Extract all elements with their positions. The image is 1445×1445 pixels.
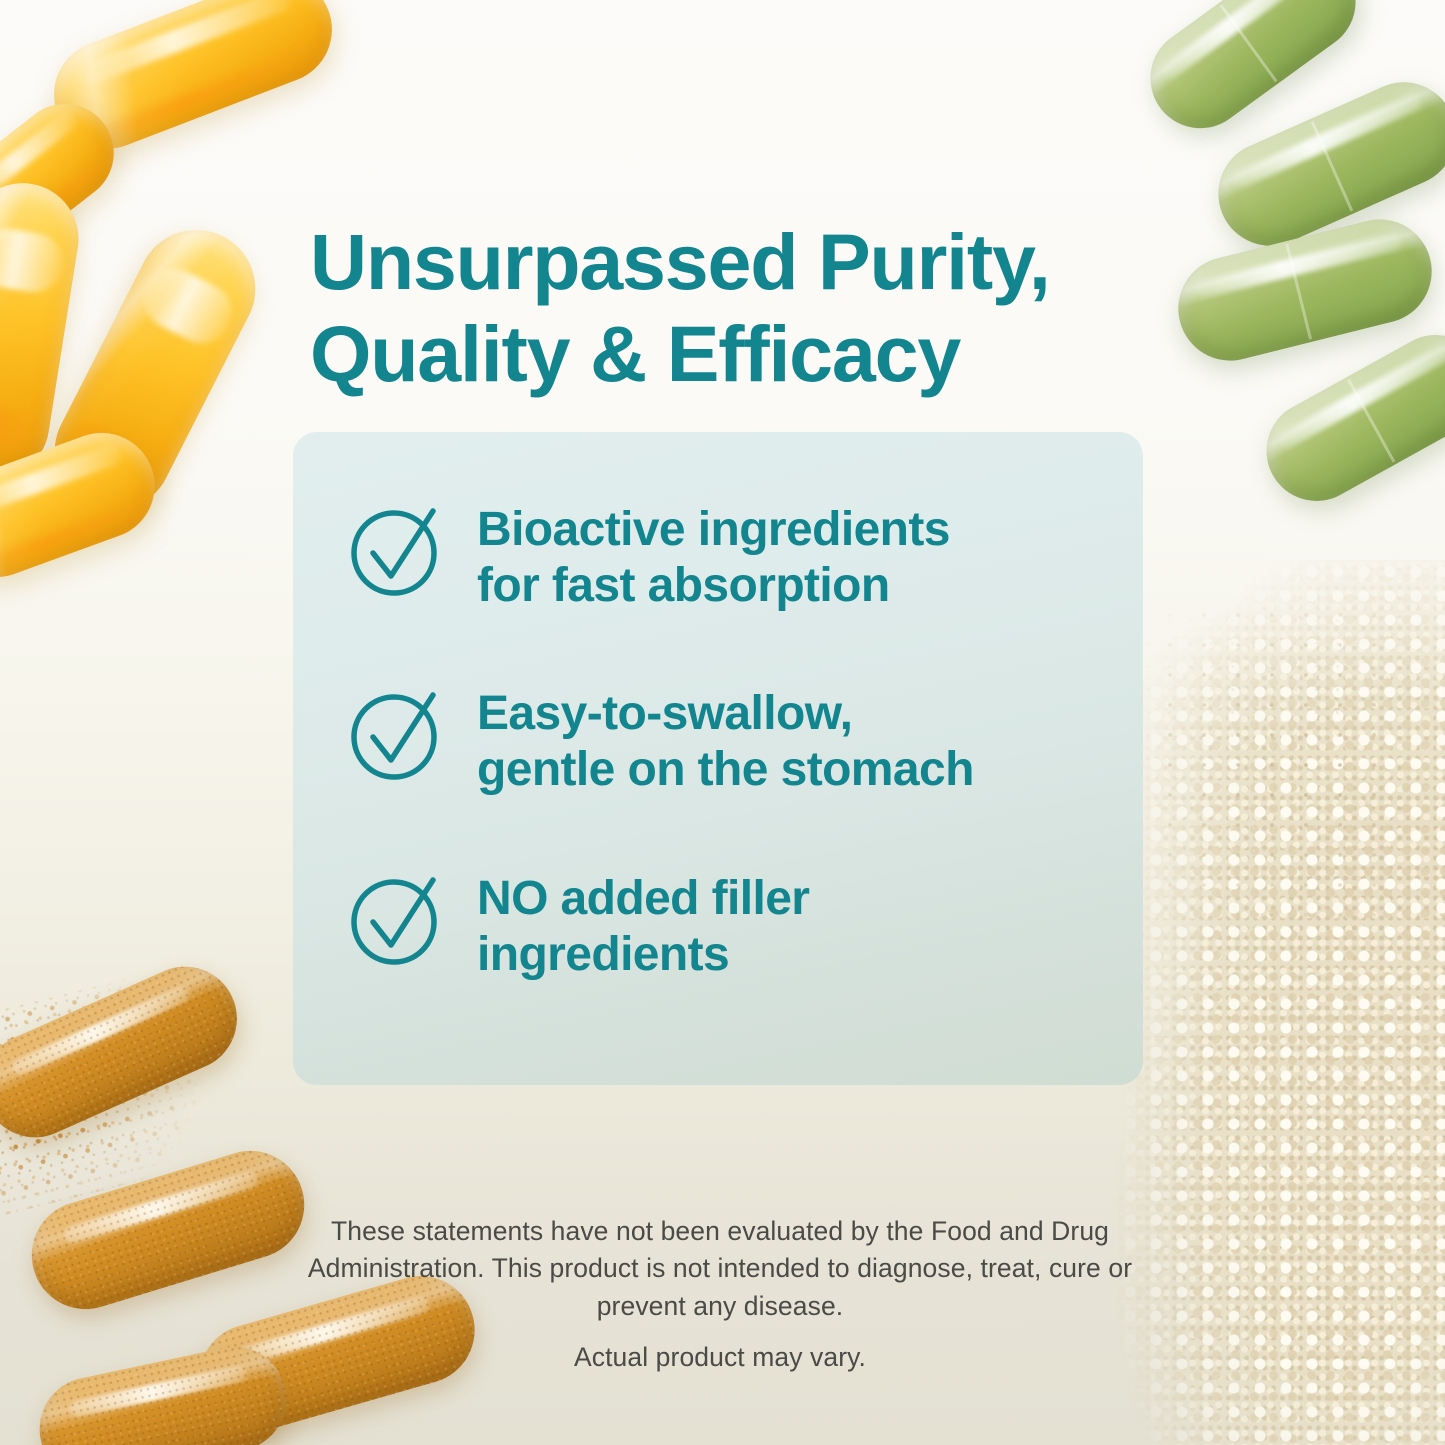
page-title-line-1: Unsurpassed Purity,	[310, 217, 1050, 306]
benefit-line-1: Easy-to-swallow,	[477, 687, 852, 740]
benefit-item-bioactive: Bioactive ingredients for fast absorptio…	[347, 494, 1103, 614]
page-title-line-2: Quality & Efficacy	[310, 308, 1170, 400]
benefit-text: NO added filler ingredients	[477, 863, 809, 983]
benefit-line-1: NO added filler	[477, 872, 809, 925]
product-feature-banner: Unsurpassed Purity, Quality & Efficacy B…	[0, 0, 1445, 1445]
benefit-line-1: Bioactive ingredients	[477, 503, 950, 556]
benefit-line-2: gentle on the stomach	[477, 743, 974, 796]
benefit-item-easy-to-swallow: Easy-to-swallow, gentle on the stomach	[347, 678, 1103, 798]
benefit-line-2: for fast absorption	[477, 559, 890, 612]
benefit-text: Easy-to-swallow, gentle on the stomach	[477, 678, 974, 798]
benefits-card: Bioactive ingredients for fast absorptio…	[293, 432, 1143, 1085]
actual-product-note: Actual product may vary.	[300, 1342, 1140, 1373]
check-circle-icon	[347, 498, 451, 602]
check-circle-icon	[347, 682, 451, 786]
check-circle-icon	[347, 867, 451, 971]
fda-disclaimer: These statements have not been evaluated…	[300, 1213, 1140, 1326]
benefits-list: Bioactive ingredients for fast absorptio…	[347, 494, 1103, 983]
page-title: Unsurpassed Purity, Quality & Efficacy	[310, 216, 1170, 399]
benefit-line-2: ingredients	[477, 928, 729, 981]
benefit-text: Bioactive ingredients for fast absorptio…	[477, 494, 950, 614]
benefit-item-no-fillers: NO added filler ingredients	[347, 863, 1103, 983]
